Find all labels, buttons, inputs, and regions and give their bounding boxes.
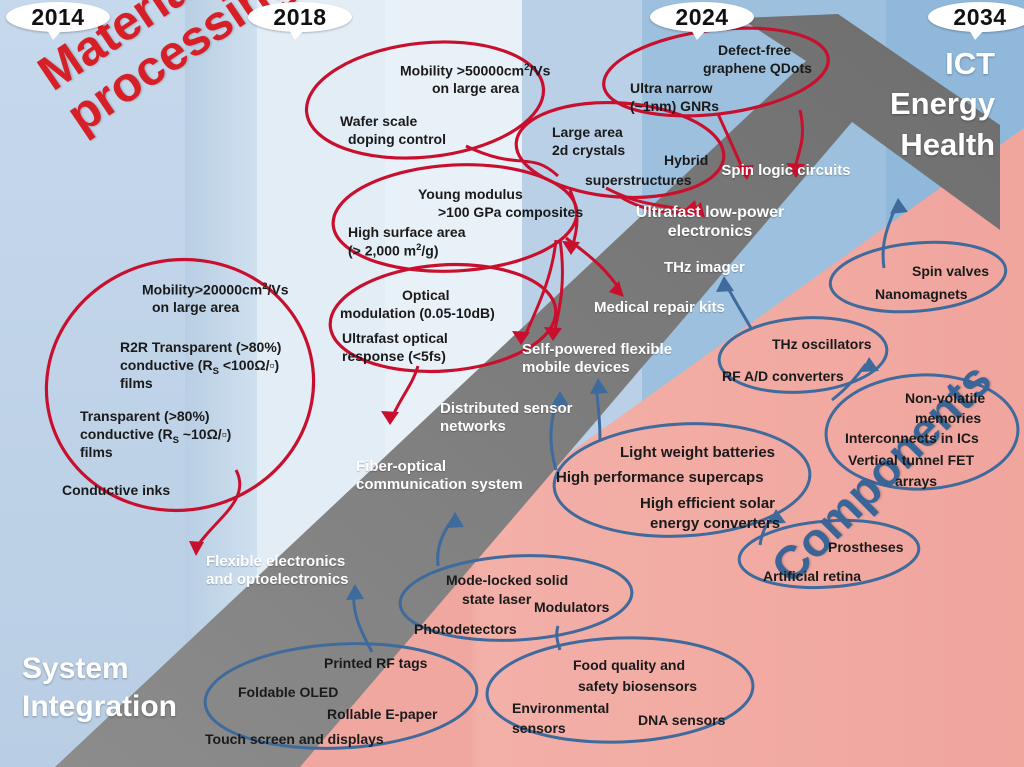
arrow-label-thz-imager: THz imager <box>664 259 745 277</box>
red-bubble-young-modulus-line-2: High surface area <box>348 224 466 241</box>
arrow-label-self-powered-flexible-mobile-devices: Self-powered flexiblemobile devices <box>522 341 672 377</box>
year-label: 2018 <box>248 2 352 32</box>
arrow-label-distributed-sensor-networks: Distributed sensornetworks <box>440 400 573 436</box>
blue-bubble-non-volatile-memories-line-3: Vertical tunnel FET <box>848 452 974 469</box>
year-label: 2014 <box>6 2 110 32</box>
blue-arrow-spin-to-arrow <box>883 206 896 268</box>
blue-bubble-non-volatile-memories-line-4: arrays <box>895 473 937 490</box>
red-bubble-defect-free-qdots-line-3: (~1nm) GNRs <box>630 98 719 115</box>
blue-bubble-biosensors-line-0: Food quality and <box>573 657 685 674</box>
blue-bubble-mode-locked-laser-line-2: Modulators <box>534 599 609 616</box>
blue-bubble-biosensors-line-4: DNA sensors <box>638 712 725 729</box>
red-bubble-optical-modulation-line-3: response (<5fs) <box>342 348 446 365</box>
blue-bubble-mode-locked-laser-line-1: state laser <box>462 591 531 608</box>
blue-bubble-displays-line-0: Printed RF tags <box>324 655 427 672</box>
red-bubble-mobility-wafer-line-3: doping control <box>348 131 446 148</box>
blue-bubble-mode-locked-laser-line-0: Mode-locked solid <box>446 572 568 589</box>
blue-bubble-non-volatile-memories-line-2: Interconnects in ICs <box>845 430 979 447</box>
red-bubble-large-area-2d-line-2: Hybrid <box>664 152 708 169</box>
arrow-label-ultrafast-low-power-electronics: Ultrafast low-powerelectronics <box>636 203 784 241</box>
title-ict-energy-health: ICT Energy Health <box>890 44 995 165</box>
blue-bubble-energy-storage-line-0: Light weight batteries <box>620 444 775 462</box>
blue-bubble-spin-valves-line-1: Nanomagnets <box>875 286 968 303</box>
red-bubble-left-materials-line-2: R2R Transparent (>80%) <box>120 339 281 356</box>
red-bubble-left-materials-line-7: films <box>80 444 113 461</box>
red-bubble-mobility-wafer-line-0: Mobility >50000cm2/Vs <box>400 62 550 79</box>
red-bubble-left-materials-line-6: conductive (RS ~10Ω/▫) <box>80 426 231 446</box>
red-bubble-mobility-wafer-line-1: on large area <box>432 80 519 97</box>
red-bubble-defect-free-qdots-line-1: graphene QDots <box>703 60 812 77</box>
red-bubble-left-materials-line-8: Conductive inks <box>62 482 170 499</box>
blue-arrow-energy-to-arrow <box>596 386 600 440</box>
year-label: 2034 <box>928 2 1024 32</box>
blue-bubble-displays-line-1: Foldable OLED <box>238 684 338 701</box>
red-bubble-defect-free-qdots-line-0: Defect-free <box>718 42 791 59</box>
blue-bubble-spin-valves-line-0: Spin valves <box>912 263 989 280</box>
arrow-label-medical-repair-kits: Medical repair kits <box>594 299 725 317</box>
year-callout-2014[interactable]: 2014 <box>6 2 110 38</box>
blue-bubble-biosensors-line-2: Environmental <box>512 700 609 717</box>
red-bubble-left-materials-line-0: Mobility>20000cm2/Vs <box>142 281 289 298</box>
blue-bubble-displays-line-3: Touch screen and displays <box>205 731 384 748</box>
title-system-integration: System Integration <box>22 650 177 725</box>
blue-bubble-biosensors-line-3: sensors <box>512 720 566 737</box>
arrow-label-spin-logic-circuits: Spin logic circuits <box>721 162 850 180</box>
red-bubble-defect-free-qdots-line-2: Ultra narrow <box>630 80 712 97</box>
blue-bubble-biosensors-line-1: safety biosensors <box>578 678 697 695</box>
year-callout-2018[interactable]: 2018 <box>248 2 352 38</box>
blue-bubble-energy-storage-line-3: energy converters <box>650 515 780 533</box>
red-bubble-left-materials-line-1: on large area <box>152 299 239 316</box>
red-bubble-young-modulus-line-1: >100 GPa composites <box>438 204 583 221</box>
red-bubble-optical-modulation-line-2: Ultrafast optical <box>342 330 448 347</box>
red-bubble-large-area-2d-line-0: Large area <box>552 124 623 141</box>
red-bubble-young-modulus-line-3: (> 2,000 m2/g) <box>348 242 439 259</box>
blue-bubble-thz-oscillators-line-1: RF A/D converters <box>722 368 844 385</box>
red-bubble-young-modulus-line-0: Young modulus <box>418 186 523 203</box>
red-bubble-left-materials-line-4: films <box>120 375 153 392</box>
blue-bubble-energy-storage-line-2: High efficient solar <box>640 495 775 513</box>
blue-bubble-displays-line-2: Rollable E-paper <box>327 706 437 723</box>
red-bubble-large-area-2d-line-1: 2d crystals <box>552 142 625 159</box>
blue-bubble-prostheses-line-1: Artificial retina <box>763 568 861 585</box>
blue-bubble-energy-storage-line-1: High performance supercaps <box>556 469 764 487</box>
blue-bubble-thz-oscillators-line-0: THz oscillators <box>772 336 872 353</box>
blue-bubble-prostheses-line-0: Prostheses <box>828 539 903 556</box>
red-bubble-mobility-wafer-line-2: Wafer scale <box>340 113 417 130</box>
blue-bubble-non-volatile-memories-line-0: Non-volatile <box>905 390 985 407</box>
red-bubble-left-materials-line-5: Transparent (>80%) <box>80 408 210 425</box>
year-callout-2034[interactable]: 2034 <box>928 2 1024 38</box>
arrow-label-fiber-optical-communication-system: Fiber-opticalcommunication system <box>356 458 523 494</box>
red-bubble-optical-modulation-line-1: modulation (0.05-10dB) <box>340 305 495 322</box>
blue-bubble-non-volatile-memories-line-1: memories <box>915 410 981 427</box>
red-bubble-large-area-2d-line-3: superstructures <box>585 172 692 189</box>
red-bubble-left-materials-line-3: conductive (RS <100Ω/▫) <box>120 357 279 377</box>
red-bubble-optical-modulation-line-0: Optical <box>402 287 449 304</box>
ellipse-thz-oscillators <box>717 312 890 398</box>
year-callout-2024[interactable]: 2024 <box>650 2 754 38</box>
roadmap-diagram: Materials & processing Components ICT En… <box>0 0 1024 767</box>
blue-bubble-mode-locked-laser-line-3: Photodetectors <box>414 621 517 638</box>
year-label: 2024 <box>650 2 754 32</box>
arrow-label-flexible-electronics-and-optoelectronics: Flexible electronicsand optoelectronics <box>206 553 349 589</box>
